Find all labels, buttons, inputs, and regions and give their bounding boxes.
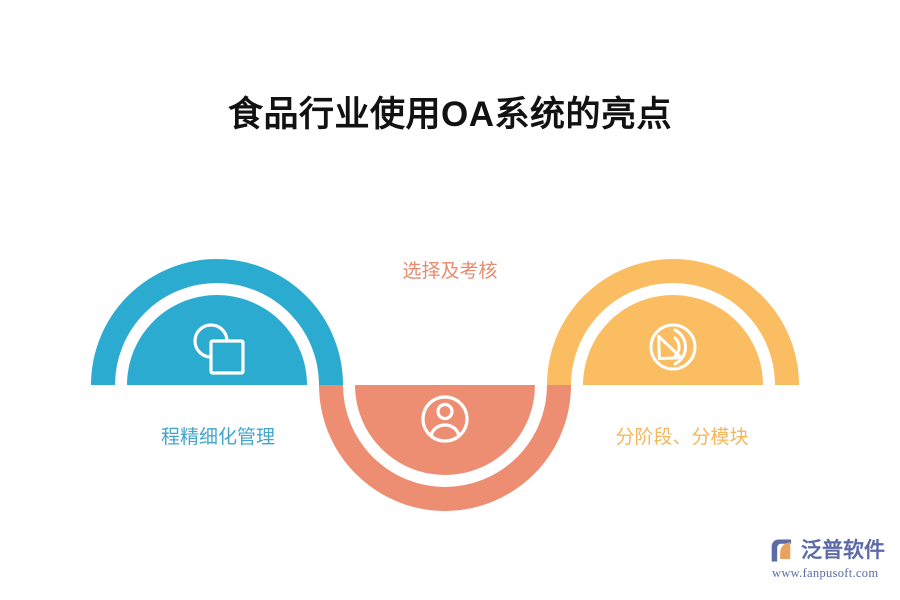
logo-wordmark: 泛普软件 xyxy=(801,537,885,564)
brand-logo[interactable]: 泛普软件 www.fanpusoft.com xyxy=(770,535,894,587)
logo-website-url: www.fanpusoft.com xyxy=(770,566,894,581)
segment-label-left: 程精细化管理 xyxy=(98,422,338,449)
broadcast-wedge-icon xyxy=(651,325,695,369)
center-outer-ring xyxy=(331,385,559,499)
right-outer-ring xyxy=(559,271,787,385)
fanpu-logo-mark xyxy=(770,537,797,564)
page-title: 食品行业使用OA系统的亮点 xyxy=(0,86,900,137)
segment-left[interactable] xyxy=(103,271,331,385)
circle-square-icon xyxy=(195,325,243,373)
segment-right[interactable] xyxy=(559,271,787,385)
center-inner-fill xyxy=(355,385,535,475)
segment-center[interactable] xyxy=(331,385,559,499)
left-outer-ring xyxy=(103,271,331,385)
user-avatar-icon xyxy=(423,397,467,441)
left-inner-fill xyxy=(127,295,307,385)
right-inner-fill xyxy=(583,295,763,385)
infographic-canvas: 食品行业使用OA系统的亮点 xyxy=(0,0,900,600)
segment-label-right: 分阶段、分模块 xyxy=(560,422,804,449)
segment-label-center: 选择及考核 xyxy=(330,256,570,283)
